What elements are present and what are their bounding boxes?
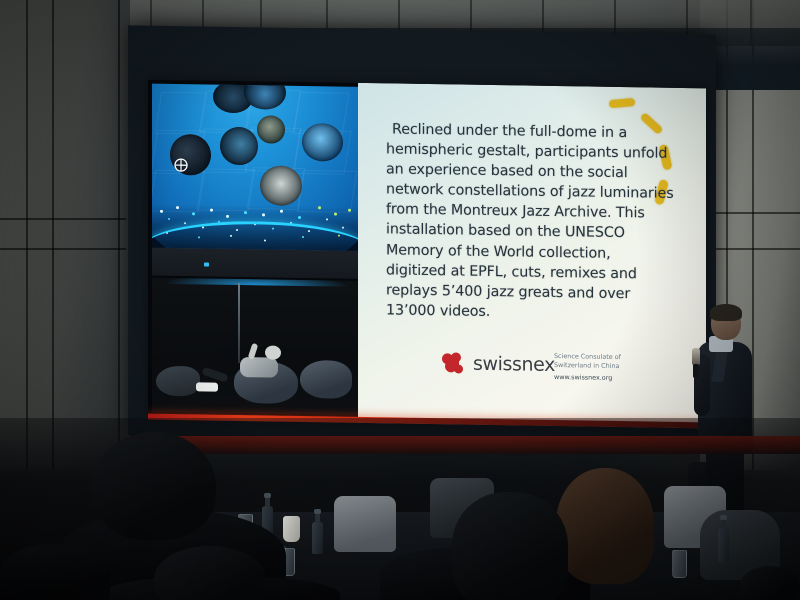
- visitor-head: [265, 345, 281, 359]
- drinking-glass: [672, 550, 687, 578]
- wall-seam: [52, 0, 54, 470]
- slide-body-text: Reclined under the full-dome in a hemisp…: [386, 119, 674, 324]
- visitor-leg: [201, 367, 228, 383]
- water-bottle: [718, 528, 729, 562]
- dome-video-portal: [302, 123, 343, 162]
- conference-photo-scene: Reclined under the full-dome in a hemisp…: [0, 0, 800, 600]
- audience-member-head: [740, 566, 800, 600]
- paper-cup: [283, 516, 300, 542]
- swissnex-logo: swissnex: [442, 352, 555, 376]
- dome-glow: [166, 278, 348, 287]
- microphone-body: [693, 364, 699, 378]
- audience-member-head: [556, 468, 654, 584]
- dome-video-portal: [257, 115, 285, 143]
- swissnex-url: www.swissnex.org: [554, 373, 674, 383]
- wall-seam: [26, 0, 28, 470]
- wall-seam: [0, 248, 126, 250]
- wall-panel-left: [0, 0, 118, 470]
- projected-slide: Reclined under the full-dome in a hemisp…: [148, 80, 706, 429]
- dome-foreground-dark: [152, 248, 358, 279]
- dome-pole: [238, 283, 240, 363]
- reclining-visitor-photo: [152, 278, 358, 415]
- wall-seam: [0, 218, 126, 220]
- presenter-hair: [710, 304, 742, 321]
- slide-image-column: [148, 80, 359, 423]
- arc-dash-icon: [609, 98, 636, 108]
- bean-bag: [156, 366, 200, 397]
- swissnex-wordmark: swissnex: [473, 353, 555, 376]
- audience-member-head: [452, 492, 568, 600]
- audience-foreground: [0, 418, 800, 600]
- audience-member-head: [92, 432, 216, 540]
- slide-text-panel: Reclined under the full-dome in a hemisp…: [358, 83, 706, 428]
- visitor-torso: [240, 357, 278, 378]
- dome-interior-photo: [152, 84, 358, 279]
- swissnex-tagline: Science Consulate of Switzerland in Chin…: [554, 352, 674, 384]
- audience-member: [0, 544, 110, 600]
- dome-video-portal: [260, 165, 302, 206]
- wall-seam: [118, 0, 120, 470]
- crosshair-marker-icon: [174, 158, 188, 172]
- water-bottle: [312, 522, 323, 554]
- visitor-shoe: [196, 382, 218, 391]
- chair-back: [334, 496, 396, 552]
- indicator-light: [204, 262, 209, 266]
- swissnex-mark-icon: [442, 352, 464, 374]
- dome-video-portal: [220, 127, 258, 166]
- bean-bag: [300, 360, 352, 399]
- tagline-line-2: Switzerland in China: [554, 361, 674, 371]
